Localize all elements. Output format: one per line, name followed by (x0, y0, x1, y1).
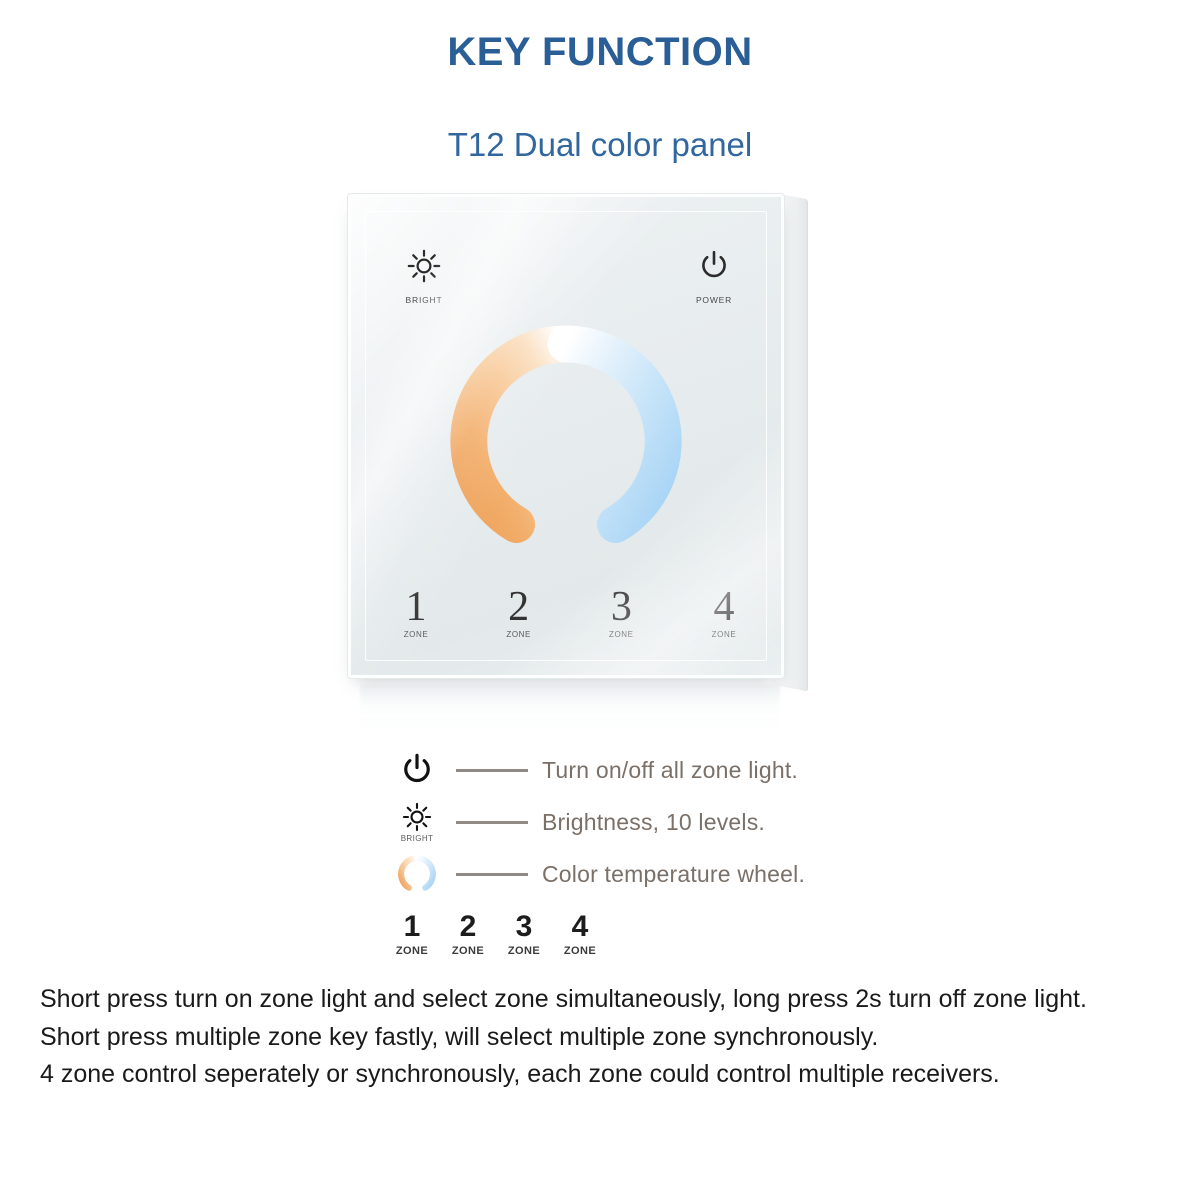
body-paragraph-3: 4 zone control seperately or synchronous… (40, 1057, 1148, 1093)
legend-row-power: Turn on/off all zone light. (388, 744, 858, 796)
device-zone-key-2[interactable]: 2 ZONE (476, 588, 562, 639)
legend-zone-3: 3 ZONE (500, 912, 548, 957)
device-illustration: BRIGHT POWER (340, 186, 840, 716)
legend-zone-4-label: ZONE (556, 945, 604, 957)
legend-row-brightness: BRIGHT Brightness, 10 levels. (388, 796, 858, 848)
legend-text-power: Turn on/off all zone light. (542, 757, 798, 784)
legend: Turn on/off all zone light. BRIGHT Brig (388, 744, 858, 900)
device-zone-key-4[interactable]: 4 ZONE (681, 588, 767, 639)
page-title: KEY FUNCTION (0, 30, 1200, 75)
device-reflection (360, 684, 780, 732)
legend-zone-3-number: 3 (500, 912, 548, 942)
legend-zone-2: 2 ZONE (444, 912, 492, 957)
device-front-face: BRIGHT POWER (348, 194, 784, 678)
legend-zone-4: 4 ZONE (556, 912, 604, 957)
device-zone-key-1-label: ZONE (373, 630, 459, 639)
device-key-bright-caption: BRIGHT (379, 295, 469, 305)
legend-dash (456, 821, 528, 824)
legend-zone-2-number: 2 (444, 912, 492, 942)
sun-icon: BRIGHT (388, 802, 446, 843)
device-zone-key-4-number: 4 (681, 588, 767, 628)
device-zone-key-2-label: ZONE (476, 630, 562, 639)
device-zone-row: 1 ZONE 2 ZONE 3 ZONE 4 ZONE (373, 588, 767, 639)
legend-zone-4-number: 4 (556, 912, 604, 942)
device-zone-key-1-number: 1 (373, 588, 459, 628)
sun-icon (407, 270, 441, 287)
device-key-power-caption: POWER (669, 295, 759, 305)
legend-dash (456, 873, 528, 876)
device-key-bright[interactable]: BRIGHT (379, 249, 469, 305)
legend-icon-caption-bright: BRIGHT (401, 834, 434, 843)
color-temperature-wheel[interactable] (450, 325, 682, 557)
legend-zone-1-label: ZONE (388, 945, 436, 957)
legend-zone-row: 1 ZONE 2 ZONE 3 ZONE 4 ZONE (388, 912, 604, 957)
body-paragraph-1: Short press turn on zone light and selec… (40, 982, 1148, 1018)
page-subtitle: T12 Dual color panel (0, 126, 1200, 164)
device-zone-key-4-label: ZONE (681, 630, 767, 639)
legend-dash (456, 769, 528, 772)
legend-zone-3-label: ZONE (500, 945, 548, 957)
legend-zone-2-label: ZONE (444, 945, 492, 957)
legend-zone-1: 1 ZONE (388, 912, 436, 957)
legend-zone-1-number: 1 (388, 912, 436, 942)
body-paragraph-2: Short press multiple zone key fastly, wi… (40, 1020, 1148, 1056)
device-zone-key-3[interactable]: 3 ZONE (578, 588, 664, 639)
color-wheel-icon (388, 855, 446, 893)
power-icon (697, 270, 731, 287)
power-icon (388, 752, 446, 788)
legend-text-brightness: Brightness, 10 levels. (542, 809, 765, 836)
device-zone-key-1[interactable]: 1 ZONE (373, 588, 459, 639)
device-key-power[interactable]: POWER (669, 249, 759, 305)
legend-text-color-wheel: Color temperature wheel. (542, 861, 805, 888)
device-zone-key-2-number: 2 (476, 588, 562, 628)
device-zone-key-3-number: 3 (578, 588, 664, 628)
device-zone-key-3-label: ZONE (578, 630, 664, 639)
body-copy: Short press turn on zone light and selec… (40, 982, 1148, 1095)
legend-row-color-wheel: Color temperature wheel. (388, 848, 858, 900)
